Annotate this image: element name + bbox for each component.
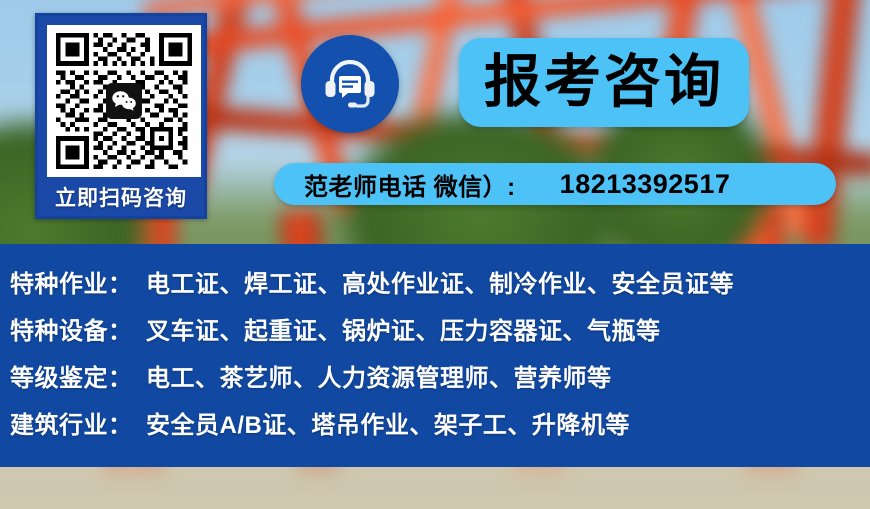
service-items: 电工证、焊工证、高处作业证、制冷作业、安全员证等 [146, 264, 734, 299]
phone-contact-pill[interactable]: 范老师电话 微信）: 18213392517 [274, 163, 836, 205]
list-item: 等级鉴定： 电工、茶艺师、人力资源管理师、营养师等 [10, 358, 870, 405]
consult-title-pill[interactable]: 报考咨询 [459, 38, 749, 127]
headset-glyph [322, 57, 378, 111]
service-items: 安全员A/B证、塔吊作业、架子工、升降机等 [146, 405, 630, 440]
qr-code-image [47, 25, 201, 177]
wechat-icon [106, 83, 142, 119]
phone-label: 范老师电话 微信）: [304, 167, 516, 202]
service-category: 特种设备： [10, 311, 146, 346]
wechat-glyph [111, 90, 137, 112]
list-item: 建筑行业： 安全员A/B证、塔吊作业、架子工、升降机等 [10, 405, 870, 452]
service-category: 建筑行业： [10, 405, 146, 440]
service-items: 电工、茶艺师、人力资源管理师、营养师等 [146, 358, 612, 393]
list-item: 特种作业： 电工证、焊工证、高处作业证、制冷作业、安全员证等 [10, 264, 870, 311]
service-items: 叉车证、起重证、锅炉证、压力容器证、气瓶等 [146, 311, 661, 346]
services-list-panel: 特种作业： 电工证、焊工证、高处作业证、制冷作业、安全员证等 特种设备： 叉车证… [0, 244, 870, 467]
headset-support-icon [301, 35, 399, 133]
consult-title-label: 报考咨询 [484, 54, 724, 111]
qr-code-card[interactable]: 立即扫码咨询 [35, 13, 207, 219]
service-category: 特种作业： [10, 264, 146, 299]
qr-caption: 立即扫码咨询 [38, 182, 204, 212]
list-item: 特种设备： 叉车证、起重证、锅炉证、压力容器证、气瓶等 [10, 311, 870, 358]
promo-poster: 立即扫码咨询 报考咨询 范老师电话 微信）: 18213392517 特种作业：… [0, 0, 870, 509]
phone-number[interactable]: 18213392517 [560, 169, 731, 200]
service-category: 等级鉴定： [10, 358, 146, 393]
